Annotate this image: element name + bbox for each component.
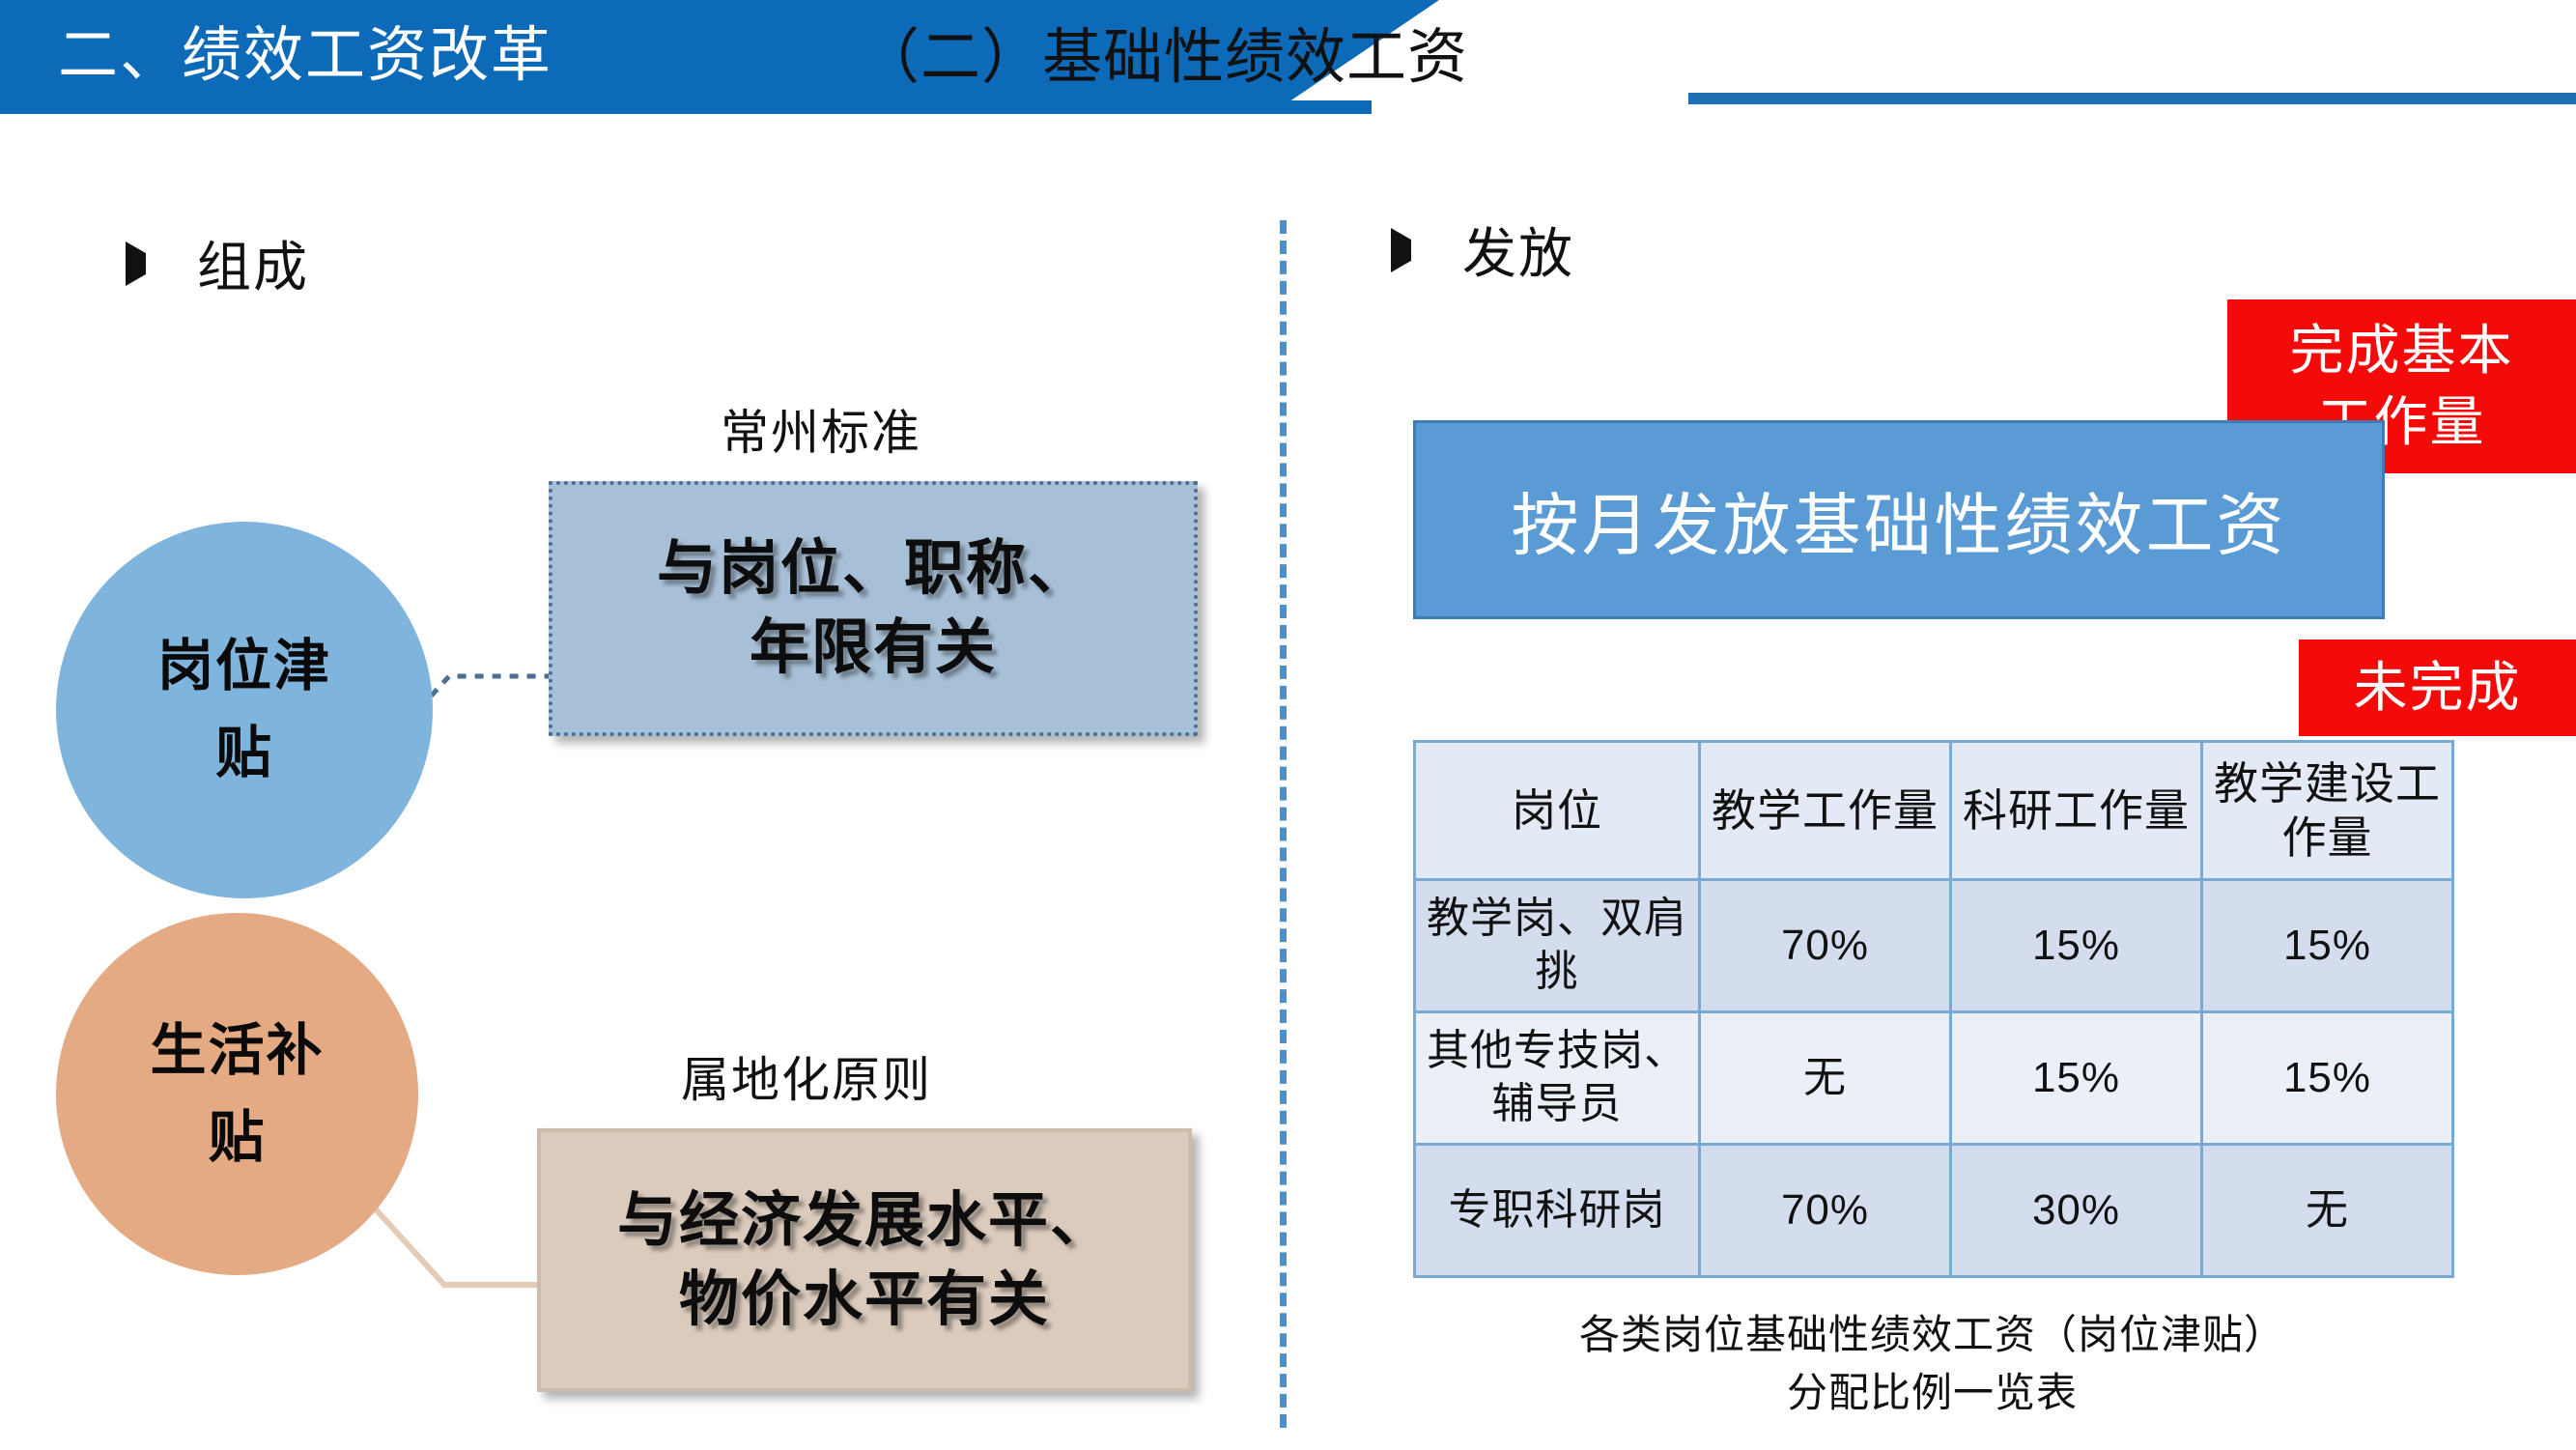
info-box-locality-line2: 物价水平有关 [617, 1261, 1112, 1340]
table-caption-line2: 分配比例一览表 [1413, 1364, 2451, 1422]
table-header-post: 岗位 [1415, 742, 1700, 880]
table-cell-teaching: 70% [1700, 880, 1951, 1012]
panel-divider [1280, 220, 1287, 1428]
section-tag: 二、绩效工资改革 [58, 12, 695, 100]
info-box-locality-principle: 与经济发展水平、 物价水平有关 [537, 1128, 1192, 1392]
table-header-row: 岗位 教学工作量 科研工作量 教学建设工作量 [1415, 742, 2453, 880]
table-cell-construction: 无 [2202, 1145, 2453, 1277]
caption-changzhou-standard: 常州标准 [618, 394, 1024, 464]
arrow-bullet-icon [126, 242, 164, 286]
page-title: （二）基础性绩效工资 [860, 14, 2115, 102]
header-underline-bar [0, 100, 1372, 114]
table-row: 其他专技岗、辅导员 无 15% 15% [1415, 1012, 2453, 1145]
table-cell-research: 30% [1951, 1145, 2202, 1277]
table-header-teaching-construction-workload: 教学建设工作量 [2202, 742, 2453, 880]
table-caption: 各类岗位基础性绩效工资（岗位津贴） 分配比例一览表 [1413, 1306, 2451, 1421]
banner-monthly-payment-label: 按月发放基础性绩效工资 [1512, 471, 2287, 569]
table-cell-construction: 15% [2202, 1012, 2453, 1145]
table-row: 专职科研岗 70% 30% 无 [1415, 1145, 2453, 1277]
table-cell-post: 其他专技岗、辅导员 [1415, 1012, 1700, 1145]
allocation-table: 岗位 教学工作量 科研工作量 教学建设工作量 教学岗、双肩挑 70% 15% 1… [1413, 740, 2454, 1278]
table-cell-post: 专职科研岗 [1415, 1145, 1700, 1277]
arrow-bullet-icon [1391, 228, 1430, 272]
status-badge-incomplete: 未完成 [2299, 640, 2576, 736]
banner-monthly-payment: 按月发放基础性绩效工资 [1413, 420, 2385, 619]
bullet-compose-label: 组成 [197, 224, 309, 302]
info-box-changzhou-line2: 年限有关 [657, 609, 1090, 688]
circle-living-allowance: 生活补贴 [56, 913, 418, 1275]
bullet-issue: 发放 [1391, 211, 1574, 289]
table-caption-line1: 各类岗位基础性绩效工资（岗位津贴） [1413, 1306, 2451, 1364]
table-header-research-workload: 科研工作量 [1951, 742, 2202, 880]
table-row: 教学岗、双肩挑 70% 15% 15% [1415, 880, 2453, 1012]
status-badge-completed-line1: 完成基本 [2290, 320, 2514, 381]
circle-living-allowance-label: 生活补贴 [136, 1008, 339, 1181]
slide-canvas: 二、绩效工资改革 （二）基础性绩效工资 组成 岗位津贴 生活补贴 常州标准 与岗… [0, 0, 2576, 1450]
caption-locality-principle: 属地化原则 [599, 1041, 1014, 1111]
info-box-changzhou-standard: 与岗位、职称、 年限有关 [549, 481, 1198, 736]
info-box-changzhou-line1: 与岗位、职称、 [657, 529, 1090, 609]
circle-post-allowance: 岗位津贴 [56, 522, 433, 898]
table-cell-teaching: 70% [1700, 1145, 1951, 1277]
table-cell-research: 15% [1951, 1012, 2202, 1145]
table-cell-construction: 15% [2202, 880, 2453, 1012]
table-cell-research: 15% [1951, 880, 2202, 1012]
bullet-issue-label: 发放 [1462, 211, 1574, 289]
table-cell-teaching: 无 [1700, 1012, 1951, 1145]
info-box-locality-line1: 与经济发展水平、 [617, 1181, 1112, 1261]
status-badge-incomplete-label: 未完成 [2354, 652, 2522, 724]
table-header-teaching-workload: 教学工作量 [1700, 742, 1951, 880]
bullet-compose: 组成 [126, 224, 309, 302]
circle-post-allowance-label: 岗位津贴 [143, 623, 346, 797]
table-cell-post: 教学岗、双肩挑 [1415, 880, 1700, 1012]
